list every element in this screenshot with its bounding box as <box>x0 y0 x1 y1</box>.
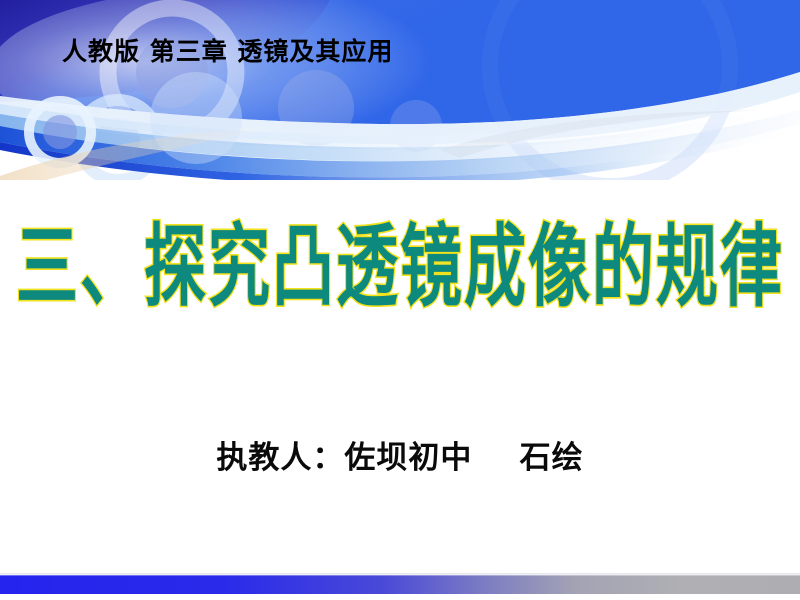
presentation-slide: 人教版 第三章 透镜及其应用 三、探究凸透镜成像的规律 执教人：佐坝初中 石绘 <box>0 0 800 600</box>
subtitle-container: 执教人：佐坝初中 石绘 <box>0 432 800 477</box>
main-title-container: 三、探究凸透镜成像的规律 <box>0 222 800 284</box>
bottom-accent-bar <box>0 575 800 594</box>
main-title: 三、探究凸透镜成像的规律 <box>16 222 784 312</box>
header-title: 人教版 第三章 透镜及其应用 <box>62 38 393 66</box>
header-banner <box>0 0 800 180</box>
presenter-subtitle: 执教人：佐坝初中 石绘 <box>216 432 583 477</box>
header-banner-graphic <box>0 0 800 180</box>
ghost-watermark <box>150 113 470 129</box>
